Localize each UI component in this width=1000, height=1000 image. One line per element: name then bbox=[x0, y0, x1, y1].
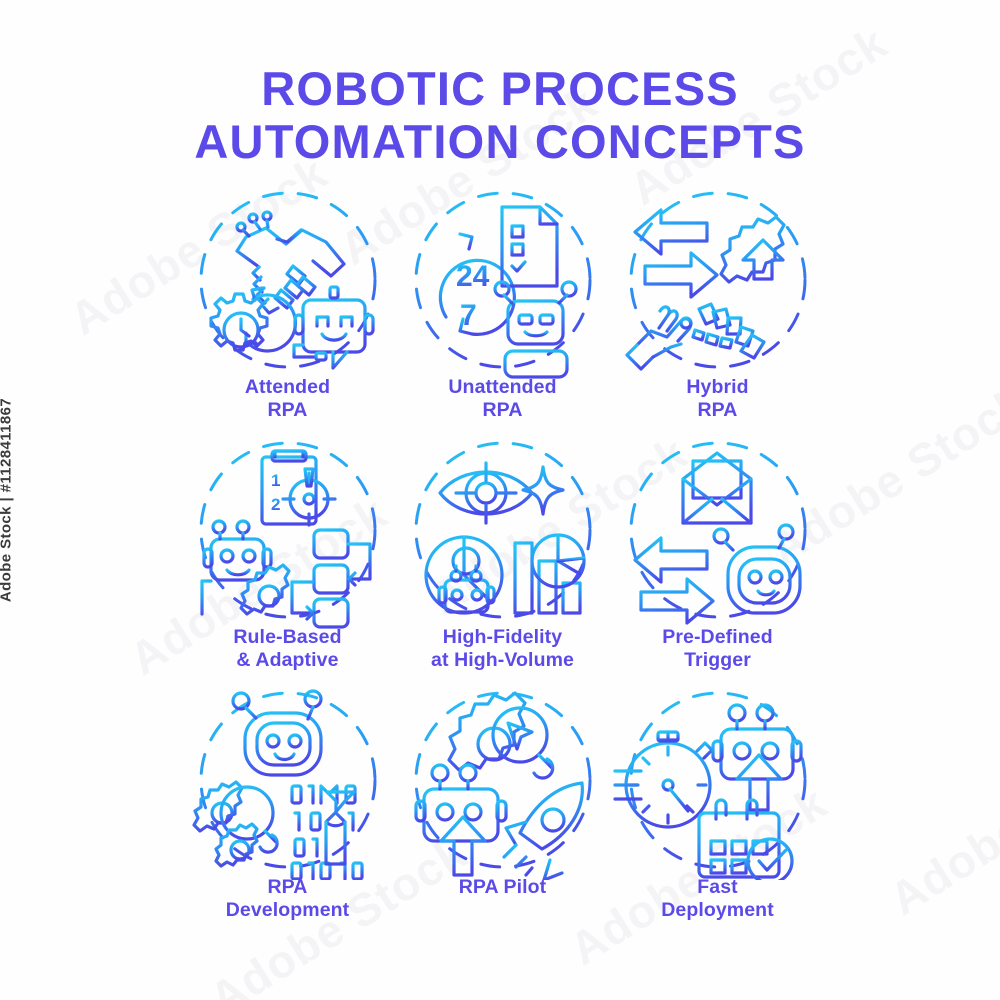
label-line2: & Adaptive bbox=[233, 649, 341, 672]
gear-clock-refresh-icon bbox=[211, 288, 295, 351]
icon-art-pre-defined-trigger bbox=[613, 435, 823, 630]
concept-card-unattended-rpa[interactable]: 24 7 bbox=[395, 185, 610, 435]
label-line2: Trigger bbox=[662, 649, 773, 672]
binary-wrench-icon bbox=[292, 786, 362, 879]
robot-up-arrow-icon bbox=[416, 765, 506, 875]
icon-art-rule-based-adaptive: 1 2 bbox=[183, 435, 393, 630]
page-title: ROBOTIC PROCESS AUTOMATION CONCEPTS bbox=[0, 62, 1000, 168]
concept-label-pre-defined-trigger: Pre-Defined Trigger bbox=[662, 626, 773, 672]
badge-7: 7 bbox=[460, 299, 477, 332]
concept-card-rpa-pilot[interactable]: RPA Pilot bbox=[395, 685, 610, 935]
concept-card-rule-based-adaptive[interactable]: 1 2 bbox=[180, 435, 395, 685]
icon-art-high-fidelity bbox=[398, 435, 608, 630]
dashed-ring bbox=[201, 693, 375, 867]
flowchart-icon bbox=[292, 530, 370, 627]
background-watermark: Adobe Stock bbox=[880, 725, 1000, 926]
robot-pie-chart-icon bbox=[426, 537, 502, 613]
concept-label-hybrid-rpa: Hybrid RPA bbox=[686, 376, 748, 422]
stock-id-watermark: Adobe Stock | #1128411867 bbox=[0, 398, 15, 602]
concept-card-hybrid-rpa[interactable]: Hybrid RPA bbox=[610, 185, 825, 435]
human-robot-hand-icon bbox=[627, 304, 764, 369]
concept-label-rpa-development: RPA Development bbox=[226, 876, 350, 922]
concept-card-fast-deployment[interactable]: Fast Deployment bbox=[610, 685, 825, 935]
rocket-icon bbox=[504, 783, 582, 880]
concept-label-rule-based-adaptive: Rule-Based & Adaptive bbox=[233, 626, 341, 672]
concept-label-high-fidelity: High-Fidelity at High-Volume bbox=[431, 626, 574, 672]
concept-label-fast-deployment: Fast Deployment bbox=[661, 876, 774, 922]
concept-label-attended-rpa: Attended RPA bbox=[245, 376, 330, 422]
round-robot-face-icon bbox=[714, 525, 800, 613]
label-line2: RPA bbox=[448, 399, 556, 422]
gears-magnifier-icon bbox=[194, 782, 277, 866]
icon-art-rpa-development bbox=[183, 685, 393, 880]
concept-card-rpa-development[interactable]: RPA Development bbox=[180, 685, 395, 935]
list-number-2: 2 bbox=[271, 495, 280, 514]
concept-label-unattended-rpa: Unattended RPA bbox=[448, 376, 556, 422]
dashed-ring bbox=[201, 443, 375, 617]
checklist-document-icon bbox=[502, 207, 557, 286]
icon-art-rpa-pilot bbox=[398, 685, 608, 880]
clipboard-target-icon: 1 2 bbox=[262, 451, 335, 525]
concept-card-attended-rpa[interactable]: Attended RPA bbox=[180, 185, 395, 435]
gear-up-arrow-icon bbox=[721, 217, 784, 282]
icon-art-attended-rpa bbox=[183, 185, 393, 380]
open-envelope-icon bbox=[683, 453, 751, 523]
page-title-line1: ROBOTIC PROCESS bbox=[261, 62, 739, 115]
label-line2: Deployment bbox=[661, 899, 774, 922]
exchange-arrows-icon bbox=[635, 210, 717, 297]
icon-art-unattended-rpa: 24 7 bbox=[398, 185, 608, 380]
icon-art-fast-deployment bbox=[613, 685, 823, 880]
robot-up-arrow-icon bbox=[713, 705, 801, 810]
eye-target-sparkle-icon bbox=[440, 463, 563, 523]
stopwatch-speed-icon bbox=[615, 732, 712, 827]
robot-head-icon bbox=[495, 282, 576, 377]
concept-card-high-fidelity[interactable]: High-Fidelity at High-Volume bbox=[395, 435, 610, 685]
concept-card-pre-defined-trigger[interactable]: Pre-Defined Trigger bbox=[610, 435, 825, 685]
badge-24: 24 bbox=[456, 260, 490, 293]
concept-icon-sheet: Adobe Stock Adobe Stock Adobe Stock Adob… bbox=[0, 0, 1000, 1000]
concept-grid: Attended RPA 24 7 bbox=[180, 185, 825, 935]
label-line2: at High-Volume bbox=[431, 649, 574, 672]
label-line2: Development bbox=[226, 899, 350, 922]
label-line2: RPA bbox=[686, 399, 748, 422]
label-line2: RPA bbox=[245, 399, 330, 422]
page-title-line2: AUTOMATION CONCEPTS bbox=[0, 115, 1000, 168]
icon-art-hybrid-rpa bbox=[613, 185, 823, 380]
list-number-1: 1 bbox=[271, 471, 280, 490]
